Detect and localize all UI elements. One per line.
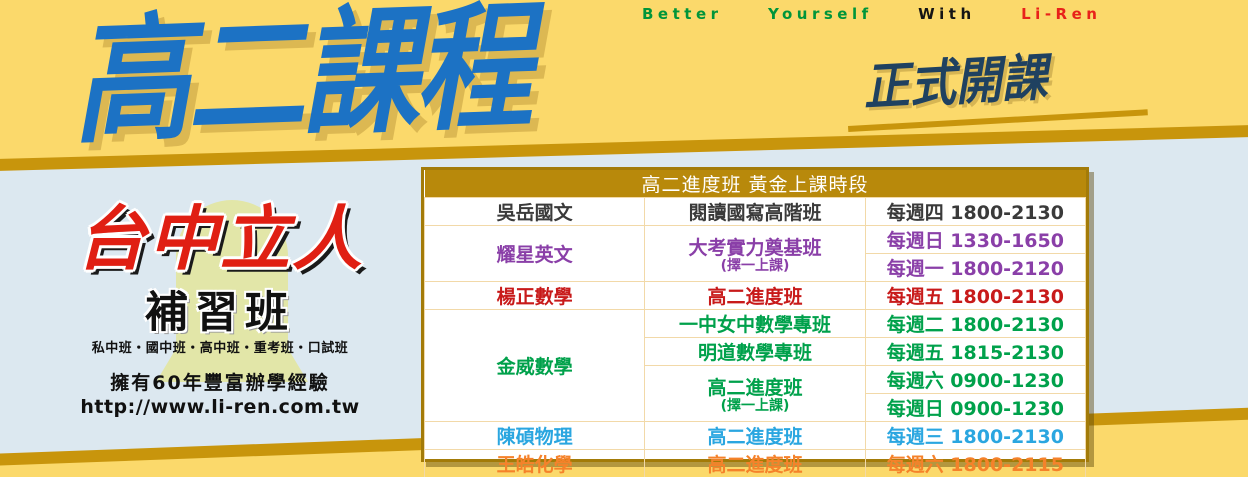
table-header-row: 高二進度班 黃金上課時段 — [425, 170, 1086, 198]
logo-brand-type: 補習班 — [42, 292, 398, 335]
cell-time: 每週一 1800-2120 — [865, 254, 1085, 282]
cell-course-note: (擇一上課) — [649, 259, 860, 274]
poster-canvas: Better Yourself With Li-Ren 高二課程 正式開課 台中… — [0, 0, 1248, 477]
cell-course: 明道數學專班 — [645, 338, 865, 366]
logo-brand-name: 台中立人 — [42, 204, 398, 275]
cell-time: 每週二 1800-2130 — [865, 310, 1085, 338]
cell-time: 每週五 1815-2130 — [865, 338, 1085, 366]
schedule-table: 高二進度班 黃金上課時段 吳岳國文閱讀國寫高階班每週四 1800-2130耀星英… — [424, 170, 1086, 477]
cell-course: 一中女中數學專班 — [645, 310, 865, 338]
tagline-word-better: Better — [642, 2, 723, 26]
tagline-word-liren: Li-Ren — [1021, 2, 1101, 26]
cell-teacher: 金威數學 — [425, 310, 645, 422]
table-row: 耀星英文大考實力奠基班(擇一上課)每週日 1330-1650 — [425, 226, 1086, 254]
table-row: 吳岳國文閱讀國寫高階班每週四 1800-2130 — [425, 198, 1086, 226]
logo-website-url: http://www.li-ren.com.tw — [42, 396, 398, 420]
cell-teacher: 耀星英文 — [425, 226, 645, 282]
cell-teacher: 楊正數學 — [425, 282, 645, 310]
cell-time: 每週六 0900-1230 — [865, 366, 1085, 394]
cell-time: 每週三 1800-2130 — [865, 422, 1085, 450]
brand-logo: 台中立人 補習班 私中班・國中班・高中班・重考班・口試班 擁有60年豐富辦學經驗… — [36, 196, 404, 426]
cell-time: 每週四 1800-2130 — [865, 198, 1085, 226]
cell-teacher: 陳碩物理 — [425, 422, 645, 450]
table-row: 王皓化學高二進度班每週六 1800-2115 — [425, 450, 1086, 477]
cell-time: 每週六 1800-2115 — [865, 450, 1085, 477]
schedule-table-body: 吳岳國文閱讀國寫高階班每週四 1800-2130耀星英文大考實力奠基班(擇一上課… — [425, 198, 1086, 477]
cell-time: 每週日 0900-1230 — [865, 394, 1085, 422]
table-row: 楊正數學高二進度班每週五 1800-2130 — [425, 282, 1086, 310]
cell-teacher: 王皓化學 — [425, 450, 645, 477]
schedule-table-container: 高二進度班 黃金上課時段 吳岳國文閱讀國寫高階班每週四 1800-2130耀星英… — [421, 167, 1089, 462]
cell-course: 高二進度班 — [645, 450, 865, 477]
tagline-word-yourself: Yourself — [768, 2, 873, 26]
cell-course: 高二進度班 — [645, 282, 865, 310]
page-subtitle: 正式開課 — [862, 52, 1049, 113]
cell-time: 每週五 1800-2130 — [865, 282, 1085, 310]
table-row: 陳碩物理高二進度班每週三 1800-2130 — [425, 422, 1086, 450]
cell-course: 閱讀國寫高階班 — [645, 198, 865, 226]
page-title: 高二課程 — [70, 0, 531, 151]
cell-course: 大考實力奠基班(擇一上課) — [645, 226, 865, 282]
cell-time: 每週日 1330-1650 — [865, 226, 1085, 254]
cell-course: 高二進度班(擇一上課) — [645, 366, 865, 422]
logo-experience-text: 擁有60年豐富辦學經驗 — [42, 372, 398, 396]
logo-class-categories: 私中班・國中班・高中班・重考班・口試班 — [42, 342, 398, 355]
tagline: Better Yourself With Li-Ren — [642, 2, 1242, 26]
cell-course-note: (擇一上課) — [649, 399, 860, 414]
cell-teacher: 吳岳國文 — [425, 198, 645, 226]
cell-course: 高二進度班 — [645, 422, 865, 450]
table-header-title: 高二進度班 黃金上課時段 — [425, 170, 1086, 198]
table-row: 金威數學一中女中數學專班每週二 1800-2130 — [425, 310, 1086, 338]
tagline-word-with: With — [918, 2, 976, 26]
